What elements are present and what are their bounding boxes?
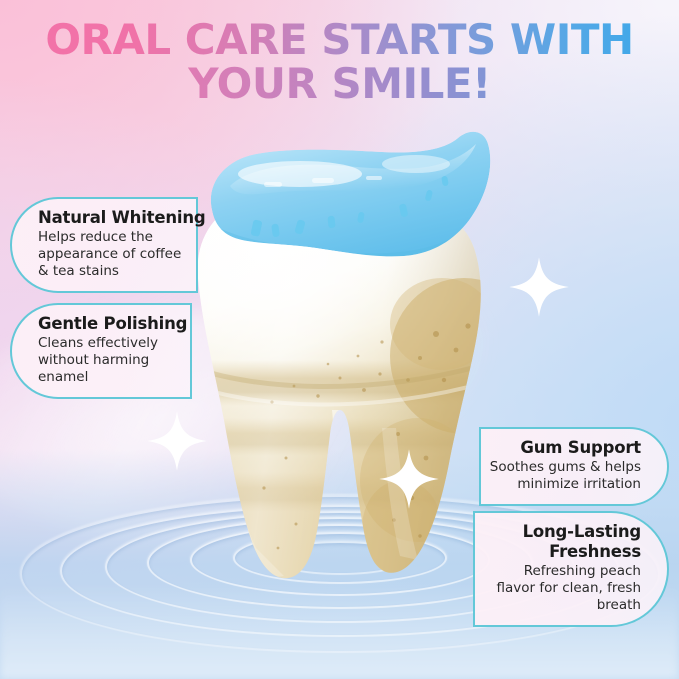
page-title: ORAL CARE STARTS WITH YOUR SMILE! bbox=[0, 18, 679, 106]
callout-title: Gum Support bbox=[487, 438, 641, 458]
callout-body: Soothes gums & helps minimize irritation bbox=[487, 459, 641, 493]
callout-long-lasting-freshness: Long-Lasting Freshness Refreshing peach … bbox=[473, 511, 669, 627]
callout-title: Gentle Polishing bbox=[38, 314, 184, 334]
callout-body: Helps reduce the appearance of coffee & … bbox=[38, 229, 190, 280]
headline-line-1: ORAL CARE STARTS WITH bbox=[0, 18, 679, 62]
tooth-svg bbox=[168, 128, 516, 618]
callout-body: Cleans effectively without harming ename… bbox=[38, 335, 184, 386]
toothpaste-gel bbox=[211, 132, 490, 259]
callout-gentle-polishing: Gentle Polishing Cleans effectively with… bbox=[10, 303, 192, 399]
tooth-illustration bbox=[168, 128, 516, 618]
infographic-canvas: ORAL CARE STARTS WITH YOUR SMILE! Natura… bbox=[0, 0, 679, 679]
headline-line-2: YOUR SMILE! bbox=[0, 62, 679, 106]
callout-body: Refreshing peach flavor for clean, fresh… bbox=[481, 563, 641, 614]
callout-gum-support: Gum Support Soothes gums & helps minimiz… bbox=[479, 427, 669, 506]
callout-title: Natural Whitening bbox=[38, 208, 190, 228]
callout-title: Long-Lasting Freshness bbox=[481, 522, 641, 562]
callout-natural-whitening: Natural Whitening Helps reduce the appea… bbox=[10, 197, 198, 293]
